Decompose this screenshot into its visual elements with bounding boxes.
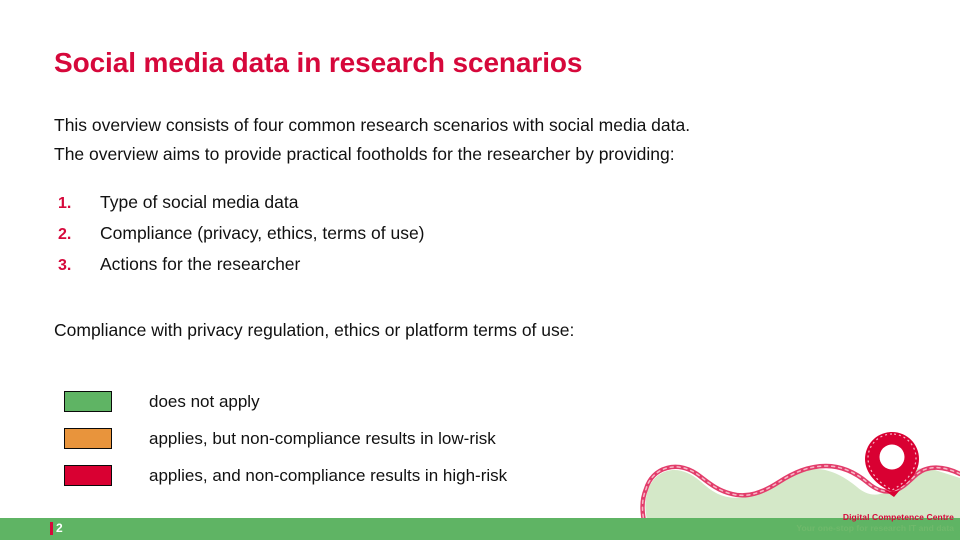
legend-label-orange: applies, but non-compliance results in l…: [149, 429, 496, 449]
numbered-list: 1. Type of social media data 2. Complian…: [54, 192, 654, 285]
presentation-slide: Social media data in research scenarios …: [0, 0, 960, 540]
intro-paragraph: This overview consists of four common re…: [54, 111, 914, 169]
compliance-heading: Compliance with privacy regulation, ethi…: [54, 320, 574, 341]
page-number-tick: [50, 522, 53, 535]
legend-row-green: does not apply: [64, 383, 507, 420]
legend-label-red: applies, and non-compliance results in h…: [149, 466, 507, 486]
logo-lockup: Digital Competence Centre Your one-stop …: [742, 512, 954, 534]
list-item-label: Actions for the researcher: [100, 254, 300, 275]
page-title: Social media data in research scenarios: [54, 47, 582, 79]
legend-label-green: does not apply: [149, 392, 260, 412]
list-item-marker: 3.: [54, 257, 100, 275]
intro-line-1: This overview consists of four common re…: [54, 111, 914, 140]
map-pin-icon: [865, 432, 919, 497]
legend-swatch-red: [64, 465, 112, 486]
logo-title: Digital Competence Centre: [742, 512, 954, 523]
list-item-marker: 1.: [54, 195, 100, 213]
risk-legend: does not apply applies, but non-complian…: [64, 383, 507, 494]
list-item: 1. Type of social media data: [54, 192, 654, 223]
list-item: 3. Actions for the researcher: [54, 254, 654, 285]
list-item-label: Type of social media data: [100, 192, 298, 213]
legend-swatch-green: [64, 391, 112, 412]
list-item-marker: 2.: [54, 226, 100, 244]
legend-row-orange: applies, but non-compliance results in l…: [64, 420, 507, 457]
list-item-label: Compliance (privacy, ethics, terms of us…: [100, 223, 425, 244]
intro-line-2: The overview aims to provide practical f…: [54, 140, 914, 169]
legend-row-red: applies, and non-compliance results in h…: [64, 457, 507, 494]
legend-swatch-orange: [64, 428, 112, 449]
list-item: 2. Compliance (privacy, ethics, terms of…: [54, 223, 654, 254]
logo-tagline: Your one-stop for research IT and data: [742, 523, 954, 534]
page-number: 2: [56, 521, 63, 535]
